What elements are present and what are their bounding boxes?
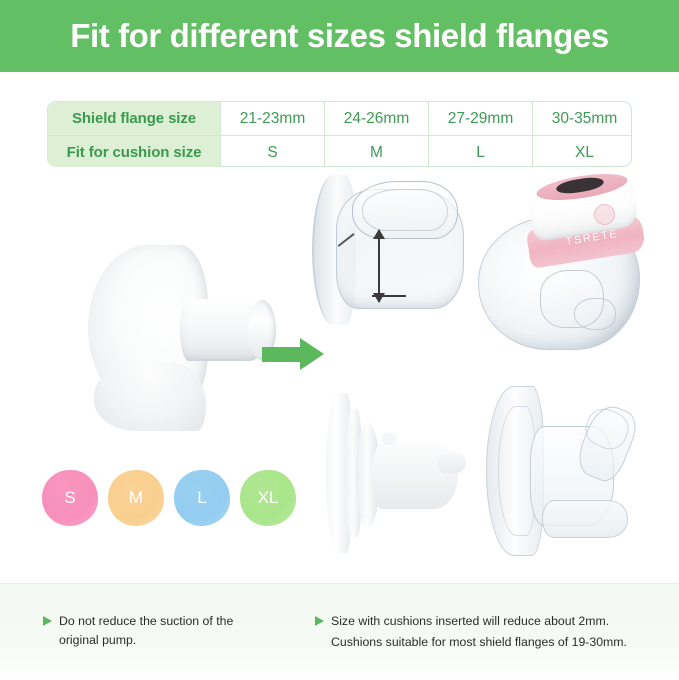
cushion-size-m: M — [325, 136, 429, 168]
cushion-size-xl: XL — [533, 136, 633, 168]
triangle-bullet-icon — [43, 616, 52, 626]
row-header-cushion-size: Fit for cushion size — [48, 136, 221, 168]
size-chart-table: Shield flange size 21-23mm 24-26mm 27-29… — [47, 101, 632, 167]
footer-notes: Do not reduce the suction of the origina… — [0, 583, 679, 680]
note-1-line-2: original pump. — [59, 631, 233, 650]
flange-size-m: 24-26mm — [325, 102, 429, 136]
size-circle-xl: XL — [240, 470, 296, 526]
size-circle-s: S — [42, 470, 98, 526]
size-circle-s-label: S — [64, 488, 75, 508]
flange-size-xl: 30-35mm — [533, 102, 633, 136]
clear-flange-image — [486, 382, 666, 562]
note-item-1: Do not reduce the suction of the origina… — [43, 612, 273, 650]
size-circle-group: S M L XL — [42, 470, 292, 536]
page-title: Fit for different sizes shield flanges — [70, 17, 609, 55]
flange-with-cushion-image — [312, 175, 472, 325]
note-2-text: Size with cushions inserted will reduce … — [331, 612, 627, 652]
measurement-arrow-icon — [378, 230, 380, 302]
triangle-bullet-icon — [315, 616, 324, 626]
note-1-line-1: Do not reduce the suction of the — [59, 614, 233, 628]
measurement-tick — [372, 295, 406, 297]
note-2-line-2: Cushions suitable for most shield flange… — [331, 633, 627, 652]
white-connector-image — [310, 385, 480, 560]
cushion-product-image — [88, 245, 273, 410]
pump-inner-duckbill — [574, 298, 616, 330]
arrow-head — [300, 338, 324, 370]
arrow-right-icon — [262, 338, 324, 370]
connector-nozzle — [438, 451, 466, 473]
size-circle-l: L — [174, 470, 230, 526]
size-circle-xl-label: XL — [258, 488, 279, 508]
note-2-line-1: Size with cushions inserted will reduce … — [331, 614, 609, 628]
cushion-size-l: L — [429, 136, 533, 168]
table-row: Shield flange size 21-23mm 24-26mm 27-29… — [48, 102, 633, 136]
row-header-flange-size: Shield flange size — [48, 102, 221, 136]
arrow-stem — [262, 347, 302, 362]
table-row: Fit for cushion size S M L XL — [48, 136, 633, 168]
wearable-pump-image: TSRETE — [478, 178, 664, 348]
flange-size-l: 27-29mm — [429, 102, 533, 136]
flange-size-s: 21-23mm — [221, 102, 325, 136]
cushion-size-s: S — [221, 136, 325, 168]
infographic-page: Fit for different sizes shield flanges S… — [0, 0, 679, 679]
inserted-cushion-inner — [362, 189, 448, 231]
header-banner: Fit for different sizes shield flanges — [0, 0, 679, 72]
note-item-2: Size with cushions inserted will reduce … — [315, 612, 660, 652]
size-circle-m-label: M — [129, 488, 143, 508]
cushion-skirt-shape — [94, 363, 206, 431]
size-circle-l-label: L — [197, 488, 206, 508]
connector-tab — [382, 433, 396, 445]
note-1-text: Do not reduce the suction of the origina… — [59, 612, 233, 650]
clear-flange-base — [542, 500, 628, 538]
size-circle-m: M — [108, 470, 164, 526]
